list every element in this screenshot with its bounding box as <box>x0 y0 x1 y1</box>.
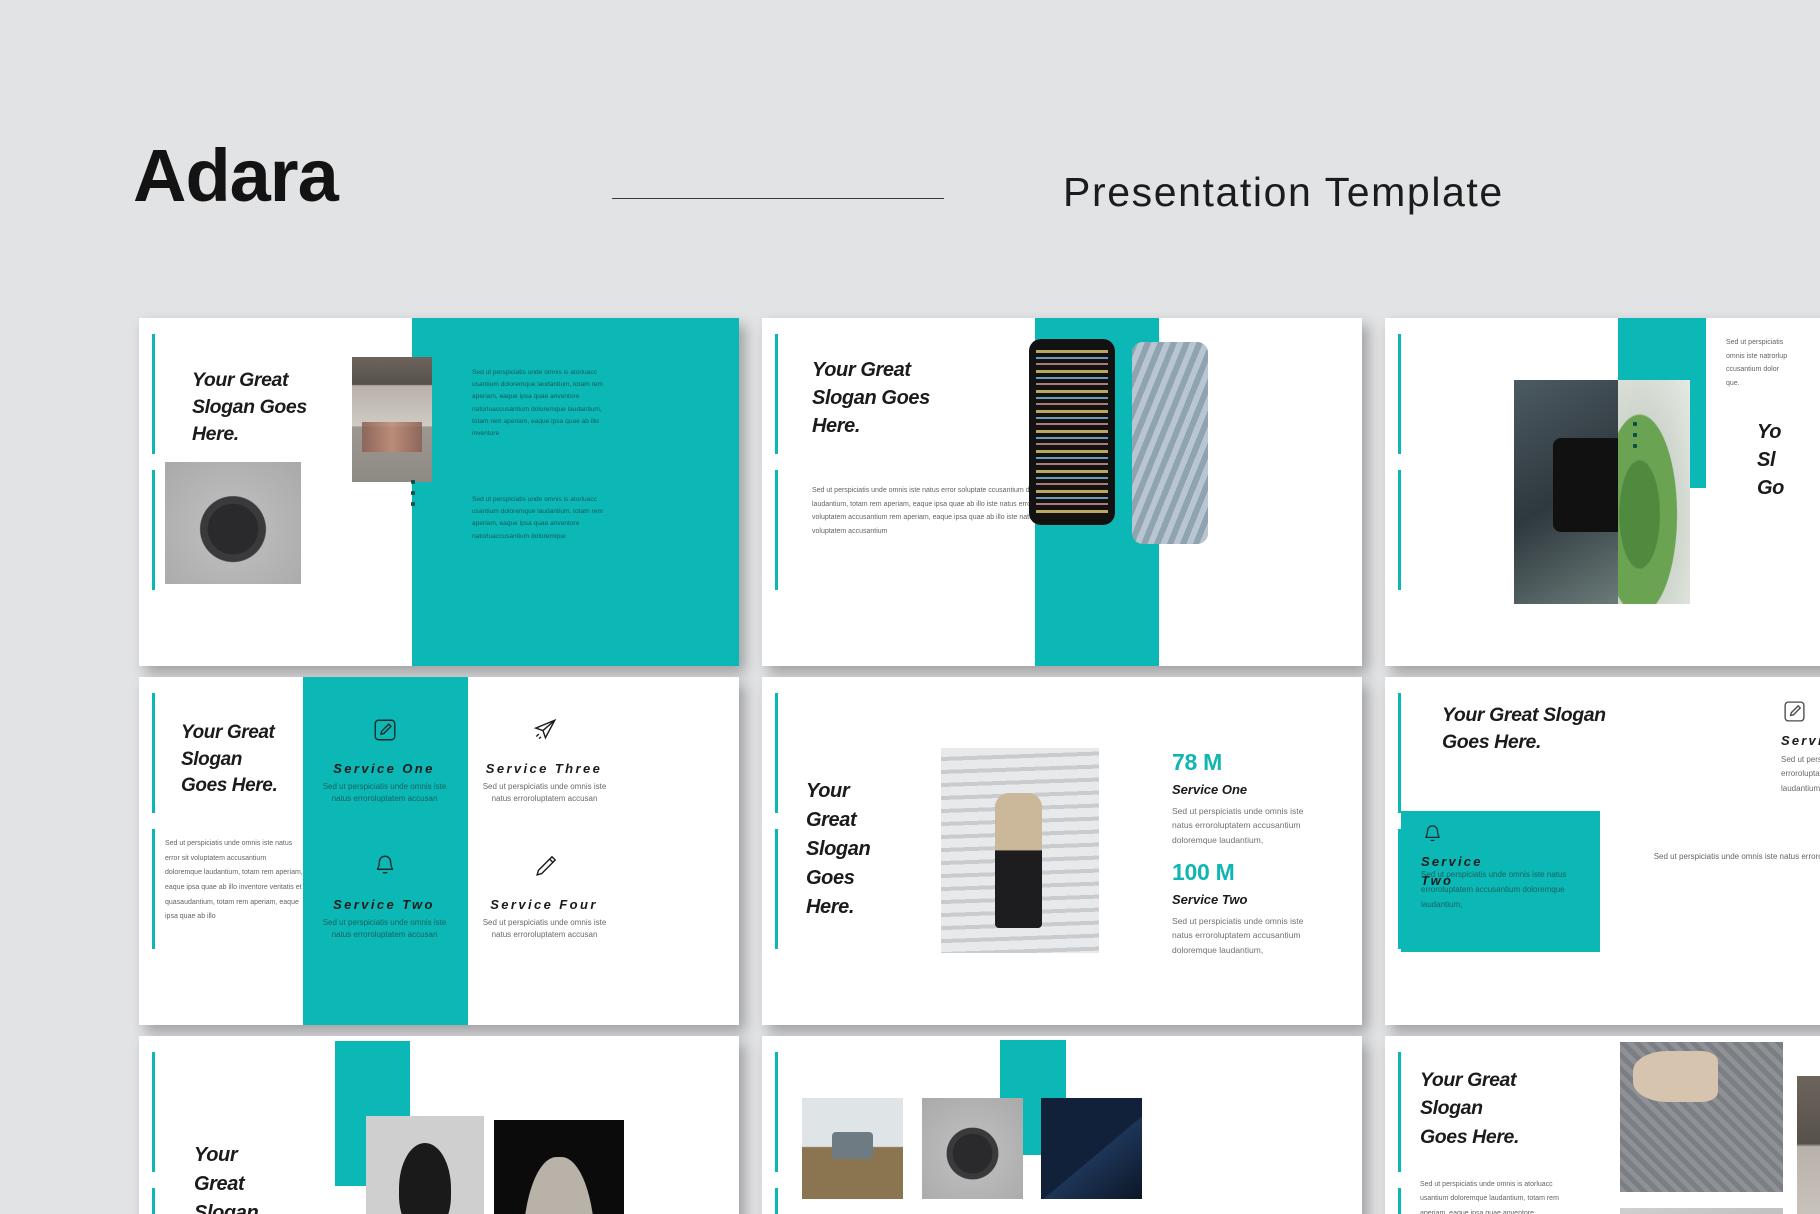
slide-3[interactable]: Sed ut perspiciatis omnis iste natrorlup… <box>1385 318 1820 666</box>
slogan-line: Your <box>806 777 916 806</box>
slide-3-slogan: Yo Sl Go <box>1757 418 1820 502</box>
slide-9-body: Sed ut perspiciatis unde omnis is atorlu… <box>1420 1178 1570 1214</box>
photo-laptop-and-phone <box>1041 1098 1142 1199</box>
slide-5[interactable]: Your Great Slogan Goes Here. 78 M Servic… <box>762 677 1362 1025</box>
accent-bar <box>152 693 155 813</box>
slogan-line: Slogan <box>1420 1094 1600 1122</box>
bell-icon <box>372 853 398 879</box>
accent-bar <box>775 470 778 590</box>
slide-2-slogan: Your Great Slogan Goes Here. <box>812 356 1012 440</box>
presentation-preview-page: Adara Presentation Template Your Great S… <box>0 0 1820 1214</box>
slogan-line: Here. <box>812 412 1012 440</box>
service-one-title: Service One <box>319 761 449 776</box>
edit-square-icon <box>372 717 398 743</box>
slide-6[interactable]: Your Great Slogan Goes Here. Service Sed… <box>1385 677 1820 1025</box>
slogan-line: Your Great Slogan <box>1442 702 1692 729</box>
accent-bar <box>1398 470 1401 590</box>
accent-bar <box>775 829 778 949</box>
slogan-line: Yo <box>1757 418 1820 446</box>
slide-9-slogan: Your Great Slogan Goes Here. <box>1420 1066 1600 1151</box>
accent-bar <box>1398 1188 1401 1214</box>
slide-4[interactable]: Your Great Slogan Goes Here. Sed ut pers… <box>139 677 739 1025</box>
accent-bar <box>1398 334 1401 454</box>
accent-bar <box>152 829 155 949</box>
accent-bar <box>152 470 155 590</box>
photo-phone-with-building <box>1132 342 1208 544</box>
stat-2-desc: Sed ut perspiciatis unde omnis iste natu… <box>1172 914 1317 957</box>
slide-grid: Your Great Slogan Goes Here. Sed ut pers… <box>0 0 1820 1214</box>
slogan-line: Great <box>194 1170 314 1199</box>
slogan-line: Goes Here. <box>1442 729 1692 756</box>
photo-scooter-rider <box>1620 1042 1783 1192</box>
slogan-line: Go <box>1757 474 1820 502</box>
photo-headphones <box>165 462 301 584</box>
service-a-desc: Sed ut perspiciatis unde omnis iste natu… <box>1781 753 1820 796</box>
accent-bar <box>775 1052 778 1172</box>
slide-7[interactable]: Your Great Slogan Goes <box>139 1036 739 1214</box>
service-three-desc: Sed ut perspiciatis unde omnis iste natu… <box>477 781 612 806</box>
stat-2-label: Service Two <box>1172 892 1247 907</box>
service-one-desc: Sed ut perspiciatis unde omnis iste natu… <box>317 781 452 806</box>
slogan-line: Here. <box>806 893 916 922</box>
slogan-line: Goes Here. <box>1420 1123 1600 1151</box>
slogan-line: Goes Here. <box>181 773 331 800</box>
slogan-line: Great <box>806 806 916 835</box>
slide-4-body: Sed ut perspiciatis unde omnis iste natu… <box>165 837 303 925</box>
slide-7-slogan: Your Great Slogan Goes <box>194 1141 314 1214</box>
edit-square-icon <box>1782 699 1807 724</box>
slide-5-slogan: Your Great Slogan Goes Here. <box>806 777 916 922</box>
slogan-line: Slogan Goes <box>812 384 1012 412</box>
service-b-desc: Sed ut perspiciatis unde omnis iste natu… <box>1421 867 1571 913</box>
slide-2[interactable]: Your Great Slogan Goes Here. Sed ut pers… <box>762 318 1362 666</box>
accent-bar <box>152 1188 155 1214</box>
slogan-line: Your Great <box>812 356 1012 384</box>
slide-6-slogan: Your Great Slogan Goes Here. <box>1442 702 1692 757</box>
accent-bar <box>152 1052 155 1172</box>
slogan-line: Your Great <box>1420 1066 1600 1094</box>
slide-1-body-1: Sed ut perspiciatis unde omnis is atorlu… <box>472 367 617 440</box>
slogan-line: Slogan <box>806 835 916 864</box>
accent-bar <box>775 1188 778 1214</box>
pencil-icon <box>533 853 559 879</box>
photo-side-strip <box>1797 1076 1820 1214</box>
accent-bar <box>1398 1052 1401 1172</box>
service-four-desc: Sed ut perspiciatis unde omnis iste natu… <box>477 917 612 942</box>
slogan-line: Your <box>194 1141 314 1170</box>
photo-man-with-hat <box>366 1116 484 1214</box>
photo-phone-with-code <box>1029 339 1115 525</box>
slogan-line: Sl <box>1757 446 1820 474</box>
service-four-title: Service Four <box>479 897 609 912</box>
service-two-title: Service Two <box>319 897 449 912</box>
photo-skater <box>941 748 1099 953</box>
slogan-line: Goes <box>806 864 916 893</box>
photo-woman-in-hijab <box>494 1120 624 1214</box>
slide-1-body-2: Sed ut perspiciatis unde omnis is atorlu… <box>472 494 617 543</box>
stat-1-value: 78 M <box>1172 749 1222 776</box>
photo-office-interior <box>352 357 432 482</box>
slide-6-body: Sed ut perspiciatis unde omnis iste natu… <box>1635 849 1820 880</box>
stat-2-value: 100 M <box>1172 859 1234 886</box>
paper-plane-icon <box>532 717 558 743</box>
stat-1-desc: Sed ut perspiciatis unde omnis iste natu… <box>1172 804 1317 847</box>
slide-8[interactable]: Your Great Slogan <box>762 1036 1362 1214</box>
accent-bar <box>775 334 778 454</box>
slide-1[interactable]: Your Great Slogan Goes Here. Sed ut pers… <box>139 318 739 666</box>
slide-4-slogan: Your Great Slogan Goes Here. <box>181 720 331 800</box>
photo-plant <box>1618 380 1690 604</box>
accent-bar <box>775 693 778 813</box>
slide-9[interactable]: Your Great Slogan Goes Here. Sed ut pers… <box>1385 1036 1820 1214</box>
slogan-line: Slogan <box>194 1199 314 1214</box>
bell-icon <box>1421 823 1444 846</box>
accent-bar <box>1398 693 1401 813</box>
dots-decoration <box>411 480 415 506</box>
service-a-title: Service <box>1781 733 1820 748</box>
slogan-line: Your Great <box>181 720 331 747</box>
slogan-line: Slogan <box>181 747 331 774</box>
photo-headphones <box>922 1098 1023 1199</box>
service-three-title: Service Three <box>479 761 609 776</box>
photo-drone <box>802 1098 903 1199</box>
slide-3-caption: Sed ut perspiciatis omnis iste natrorlup… <box>1726 336 1788 391</box>
photo-secondary <box>1620 1208 1783 1214</box>
accent-bar <box>152 334 155 454</box>
dots-decoration <box>1633 422 1637 448</box>
stat-1-label: Service One <box>1172 782 1247 797</box>
service-two-desc: Sed ut perspiciatis unde omnis iste natu… <box>317 917 452 942</box>
